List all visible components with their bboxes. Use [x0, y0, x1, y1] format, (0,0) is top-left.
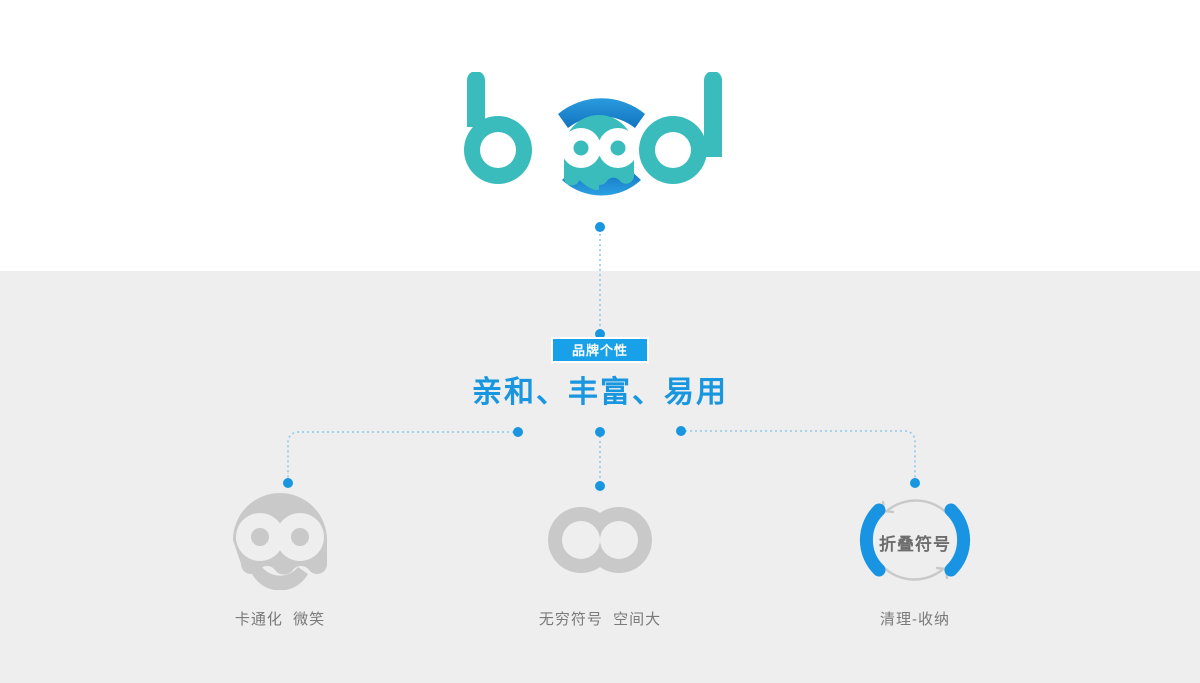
logo-letter-d-counter [655, 132, 691, 168]
fold-recycle-icon-wrap [795, 490, 1035, 590]
logo-letter-d-stem [704, 72, 722, 157]
infinity-symbol-icon-wrap [480, 490, 720, 590]
logo-eye-left-pupil [574, 141, 589, 156]
fold-recycle-icon [850, 488, 980, 592]
recycle-arrow-bottom-arc [876, 558, 942, 579]
feature-item-cartoon: 卡通化 微笑 [160, 490, 400, 629]
cartoon-face-icon-wrap [160, 490, 400, 590]
logo-eye-right-pupil [611, 141, 626, 156]
feature-label-fold: 清理-收纳 [795, 608, 1035, 629]
recycle-arrow-top-arc [888, 501, 954, 522]
boad-logo-icon [455, 72, 745, 222]
logo-letter-b-stem [467, 72, 485, 127]
fold-bracket-right [951, 510, 964, 570]
feature-label-cartoon: 卡通化 微笑 [160, 608, 400, 629]
feature-item-fold: 清理-收纳 [795, 490, 1035, 629]
brand-personality-badge[interactable]: 品牌个性 [551, 337, 649, 363]
cartoon-eye-left-pupil [251, 528, 269, 546]
cartoon-face-icon [220, 490, 340, 590]
page-title: 亲和、丰富、易用 [0, 375, 1200, 411]
cartoon-eye-right-pupil [291, 528, 309, 546]
page-root: 品牌个性 亲和、丰富、易用 卡通化 微笑 无穷符号 空间大 [0, 0, 1200, 683]
brand-logo [455, 72, 745, 222]
feature-item-infinity: 无穷符号 空间大 [480, 490, 720, 629]
infinity-hole-left [562, 521, 600, 559]
logo-letter-b-counter [480, 132, 516, 168]
fold-bracket-left [866, 510, 879, 570]
feature-label-infinity: 无穷符号 空间大 [480, 608, 720, 629]
infinity-symbol-icon [540, 490, 660, 590]
infinity-hole-right [600, 521, 638, 559]
